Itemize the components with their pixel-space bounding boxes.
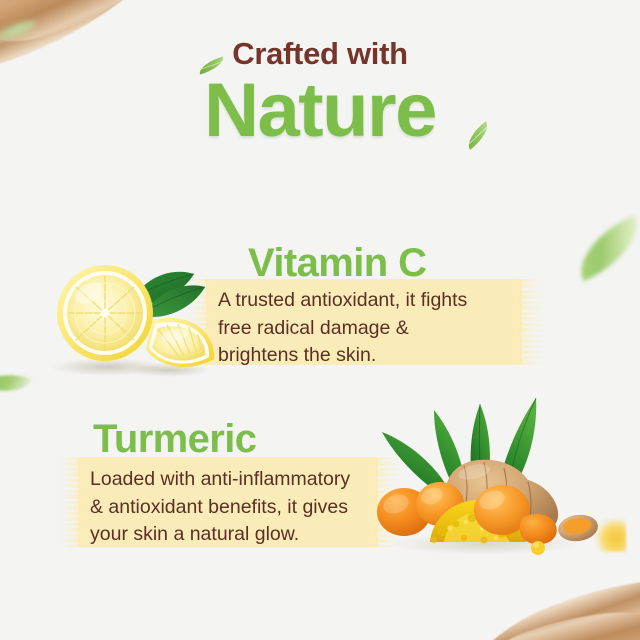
- ingredient-title-turmeric: Turmeric: [93, 419, 256, 459]
- ingredient-poster: Crafted with Nature: [0, 0, 640, 640]
- headline-line-2: Nature: [0, 71, 640, 151]
- headline-line-1: Crafted with: [0, 38, 640, 69]
- lemon-photo: [42, 255, 222, 377]
- ingredient-title-vitamin-c: Vitamin C: [248, 243, 426, 283]
- headline: Crafted with Nature: [0, 38, 640, 151]
- leaf-left-edge-icon: [0, 366, 32, 400]
- ingredient-body-turmeric: Loaded with anti-inflammatory & antioxid…: [90, 466, 390, 549]
- ingredient-body-vitamin-c: A trusted antioxidant, it fights free ra…: [218, 287, 518, 370]
- leaf-right-edge-icon: [567, 215, 640, 282]
- turmeric-photo: [372, 392, 598, 560]
